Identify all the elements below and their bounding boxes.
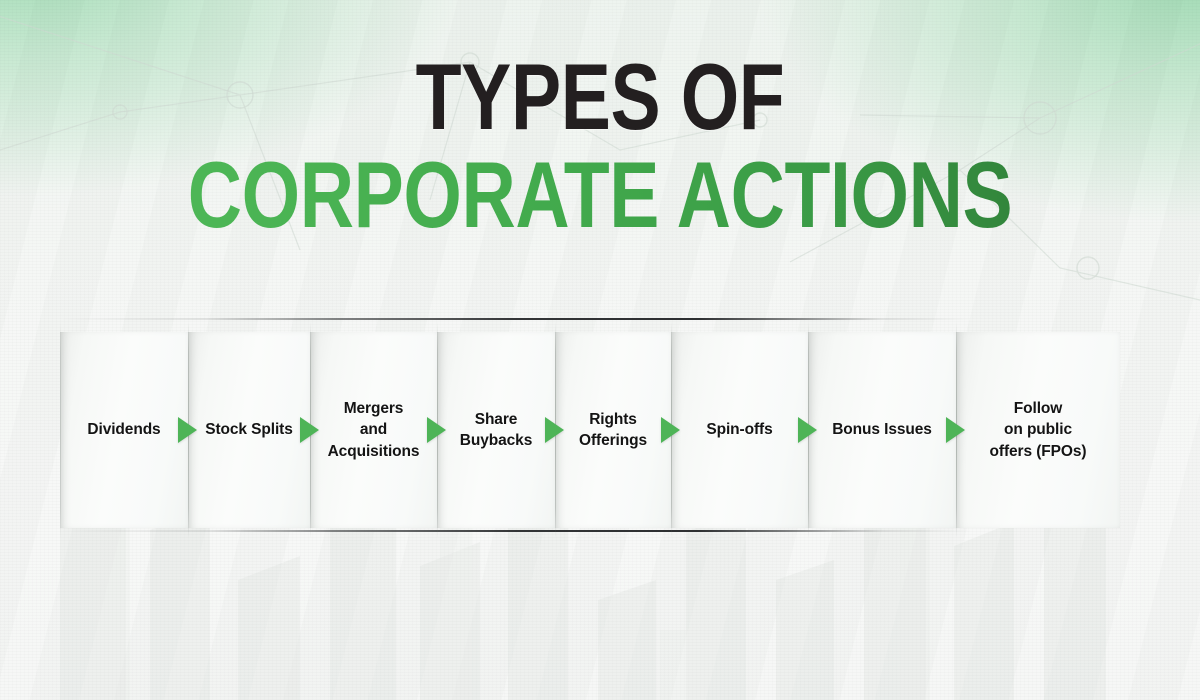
arrow-right-icon: [798, 417, 817, 443]
flow-card-list: Dividends Stock Splits Mergers and Acqui…: [60, 332, 1120, 528]
flow-card-label: Bonus Issues: [832, 419, 932, 440]
flow-card-share-buybacks[interactable]: Share Buybacks: [437, 332, 555, 528]
flow-card-label: Rights Offerings: [579, 409, 647, 452]
infographic-canvas: TYPES OF CORPORATE ACTIONS Dividends Sto…: [0, 0, 1200, 700]
arrow-right-icon: [427, 417, 446, 443]
title-line-primary: TYPES OF: [120, 54, 1080, 140]
arrow-right-icon: [946, 417, 965, 443]
flow-rule-top: [60, 318, 1200, 320]
flow-card-dividends[interactable]: Dividends: [60, 332, 188, 528]
flow-card-spin-offs[interactable]: Spin-offs: [671, 332, 808, 528]
arrow-right-icon: [661, 417, 680, 443]
flow-card-label: Share Buybacks: [460, 409, 532, 452]
arrow-right-icon: [178, 417, 197, 443]
flow-card-label: Mergers and Acquisitions: [328, 398, 420, 462]
flow-card-label: Dividends: [87, 419, 160, 440]
flow-card-follow-on-public-offers[interactable]: Follow on public offers (FPOs): [956, 332, 1120, 528]
flow-card-stock-splits[interactable]: Stock Splits: [188, 332, 310, 528]
flow-card-mergers-and-acquisitions[interactable]: Mergers and Acquisitions: [310, 332, 437, 528]
arrow-right-icon: [300, 417, 319, 443]
flow-card-bonus-issues[interactable]: Bonus Issues: [808, 332, 956, 528]
flow-card-label: Follow on public offers (FPOs): [990, 398, 1087, 462]
corporate-actions-flow: Dividends Stock Splits Mergers and Acqui…: [0, 300, 1200, 550]
arrow-right-icon: [545, 417, 564, 443]
flow-rule-bottom: [60, 530, 1200, 532]
flow-card-rights-offerings[interactable]: Rights Offerings: [555, 332, 671, 528]
page-title: TYPES OF CORPORATE ACTIONS: [0, 54, 1200, 239]
flow-card-label: Stock Splits: [205, 419, 293, 440]
flow-card-label: Spin-offs: [706, 419, 772, 440]
title-line-accent: CORPORATE ACTIONS: [120, 152, 1080, 238]
